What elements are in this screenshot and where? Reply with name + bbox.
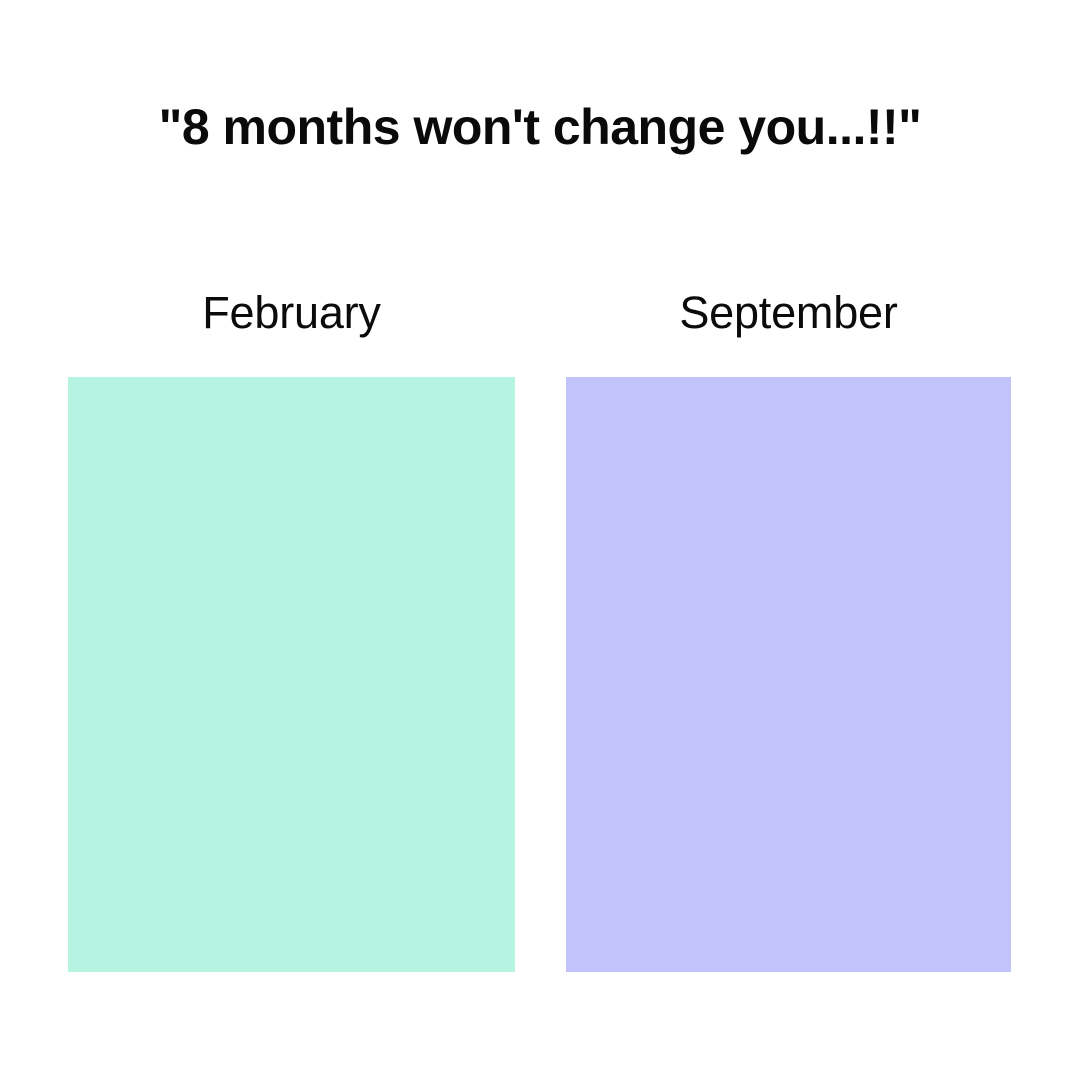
comparison-row: February September — [68, 288, 1011, 972]
comparison-panel-february: February — [68, 288, 515, 972]
february-image-placeholder — [68, 377, 515, 972]
meme-canvas: "8 months won't change you...!!" Februar… — [0, 0, 1080, 1080]
panel-label-september: September — [566, 288, 1011, 338]
comparison-panel-september: September — [566, 288, 1011, 972]
panel-label-february: February — [68, 288, 515, 338]
september-image-placeholder — [566, 377, 1011, 972]
page-title: "8 months won't change you...!!" — [0, 100, 1080, 155]
